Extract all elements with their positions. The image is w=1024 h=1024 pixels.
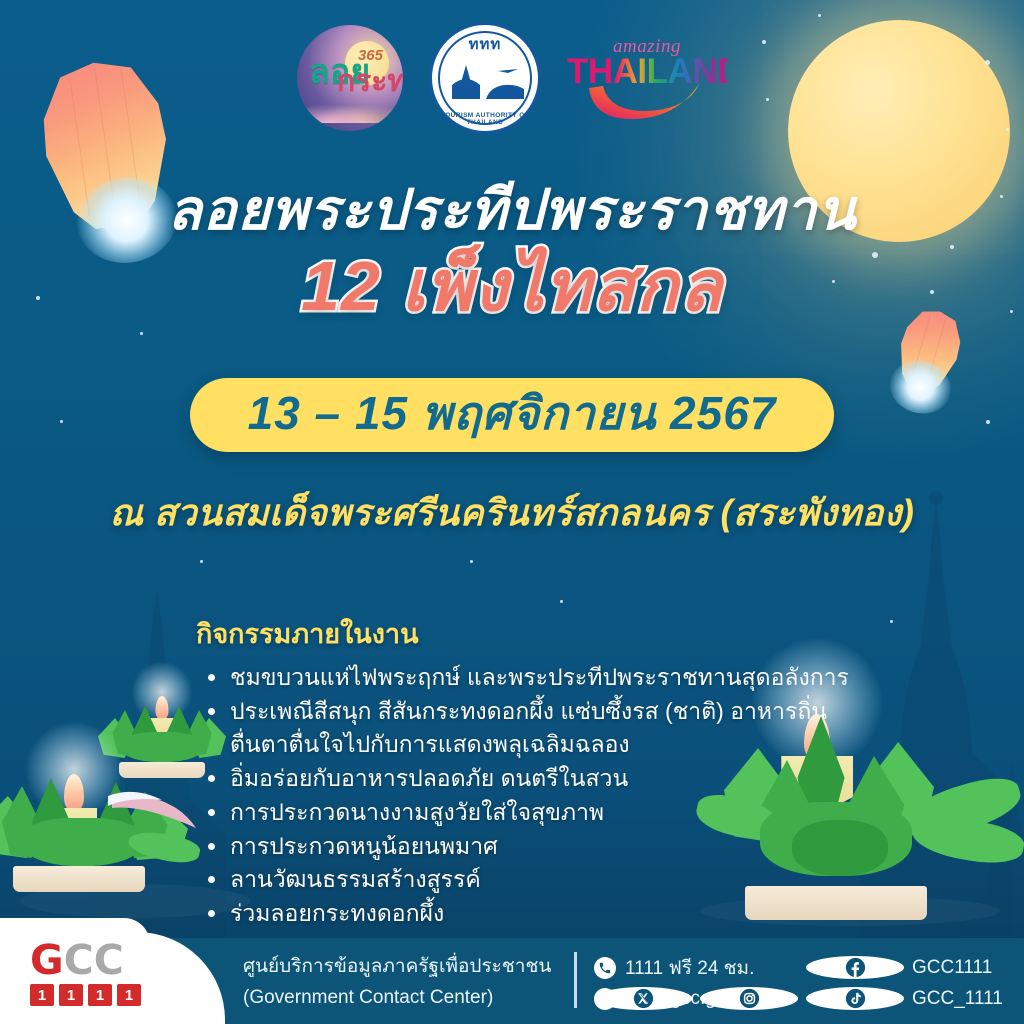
loy-krathong-festival-logo: 365 ลอย กระทง	[297, 25, 403, 131]
social-handles-row[interactable]: GCC_1111	[594, 983, 1010, 1014]
tiktok-icon[interactable]	[806, 987, 904, 1010]
gcc-letter-g: G	[30, 940, 64, 981]
gcc-digit: 1	[117, 984, 141, 1006]
facebook-row[interactable]: GCC1111	[594, 952, 1010, 983]
contact-center-name-th: ศูนย์บริการข้อมูลภาครัฐเพื่อประชาชน	[243, 952, 551, 983]
event-venue-text: ณ สวนสมเด็จพระศรีนครินทร์สกลนคร (สระพังท…	[0, 484, 1024, 541]
contact-center-name-en: (Government Contact Center)	[243, 983, 551, 1014]
tourism-authority-thailand-logo: ททท TOURISM AUTHORITY OF THAILAND	[429, 22, 541, 134]
ribbon-decoration	[104, 786, 200, 830]
amazing-thailand-logo: amazing THAILAND	[567, 32, 727, 124]
amazing-swoosh-icon	[583, 84, 713, 122]
festival-logo-lotus-icon	[297, 99, 403, 123]
x-twitter-icon[interactable]	[594, 987, 692, 1010]
gcc-logo-letters: G C C	[30, 940, 180, 981]
krathong-right	[706, 694, 1024, 920]
tat-temple-icon	[442, 59, 528, 99]
instagram-icon[interactable]	[700, 987, 798, 1010]
gcc-digit: 1	[59, 984, 83, 1006]
gcc-digit: 1	[88, 984, 112, 1006]
tat-logo-abbr: ททท	[432, 32, 538, 56]
gcc-letter-c-2: C	[94, 940, 124, 981]
title-line-2: 12 เพ็งไทสกล	[0, 246, 1024, 327]
logo-row: 365 ลอย กระทง ททท TOURISM AUTHORITY OF T…	[0, 22, 1024, 134]
gcc-logo-digits: 1 1 1 1	[30, 984, 180, 1006]
tat-logo-ring-text: TOURISM AUTHORITY OF THAILAND	[432, 112, 538, 126]
social-links: GCC1111	[594, 952, 1010, 1014]
footer-bar: G C C 1 1 1 1 ศูนย์บริการข้อมูลภาครัฐเพื…	[0, 938, 1024, 1024]
facebook-icon[interactable]	[806, 956, 904, 979]
gcc-digit: 1	[30, 984, 54, 1006]
festival-logo-text-sub: กระทง	[337, 67, 403, 97]
footer-divider	[574, 952, 577, 1008]
event-date-text: 13 – 15 พฤศจิกายน 2567	[242, 390, 782, 436]
gcc-letter-c-1: C	[64, 940, 94, 981]
title-line-1: ลอยพระประทีปพระราชทาน	[0, 178, 1024, 242]
festival-poster: 365 ลอย กระทง ททท TOURISM AUTHORITY OF T…	[0, 0, 1024, 1024]
gcc-logo: G C C 1 1 1 1	[30, 940, 180, 1006]
contact-center-name: ศูนย์บริการข้อมูลภาครัฐเพื่อประชาชน (Gov…	[243, 952, 551, 1014]
facebook-handle: GCC1111	[912, 957, 1010, 979]
poster-headline: ลอยพระประทีปพระราชทาน 12 เพ็งไทสกล	[0, 178, 1024, 327]
social-handle: GCC_1111	[912, 988, 1010, 1010]
event-date-badge: 13 – 15 พฤศจิกายน 2567	[190, 378, 834, 452]
